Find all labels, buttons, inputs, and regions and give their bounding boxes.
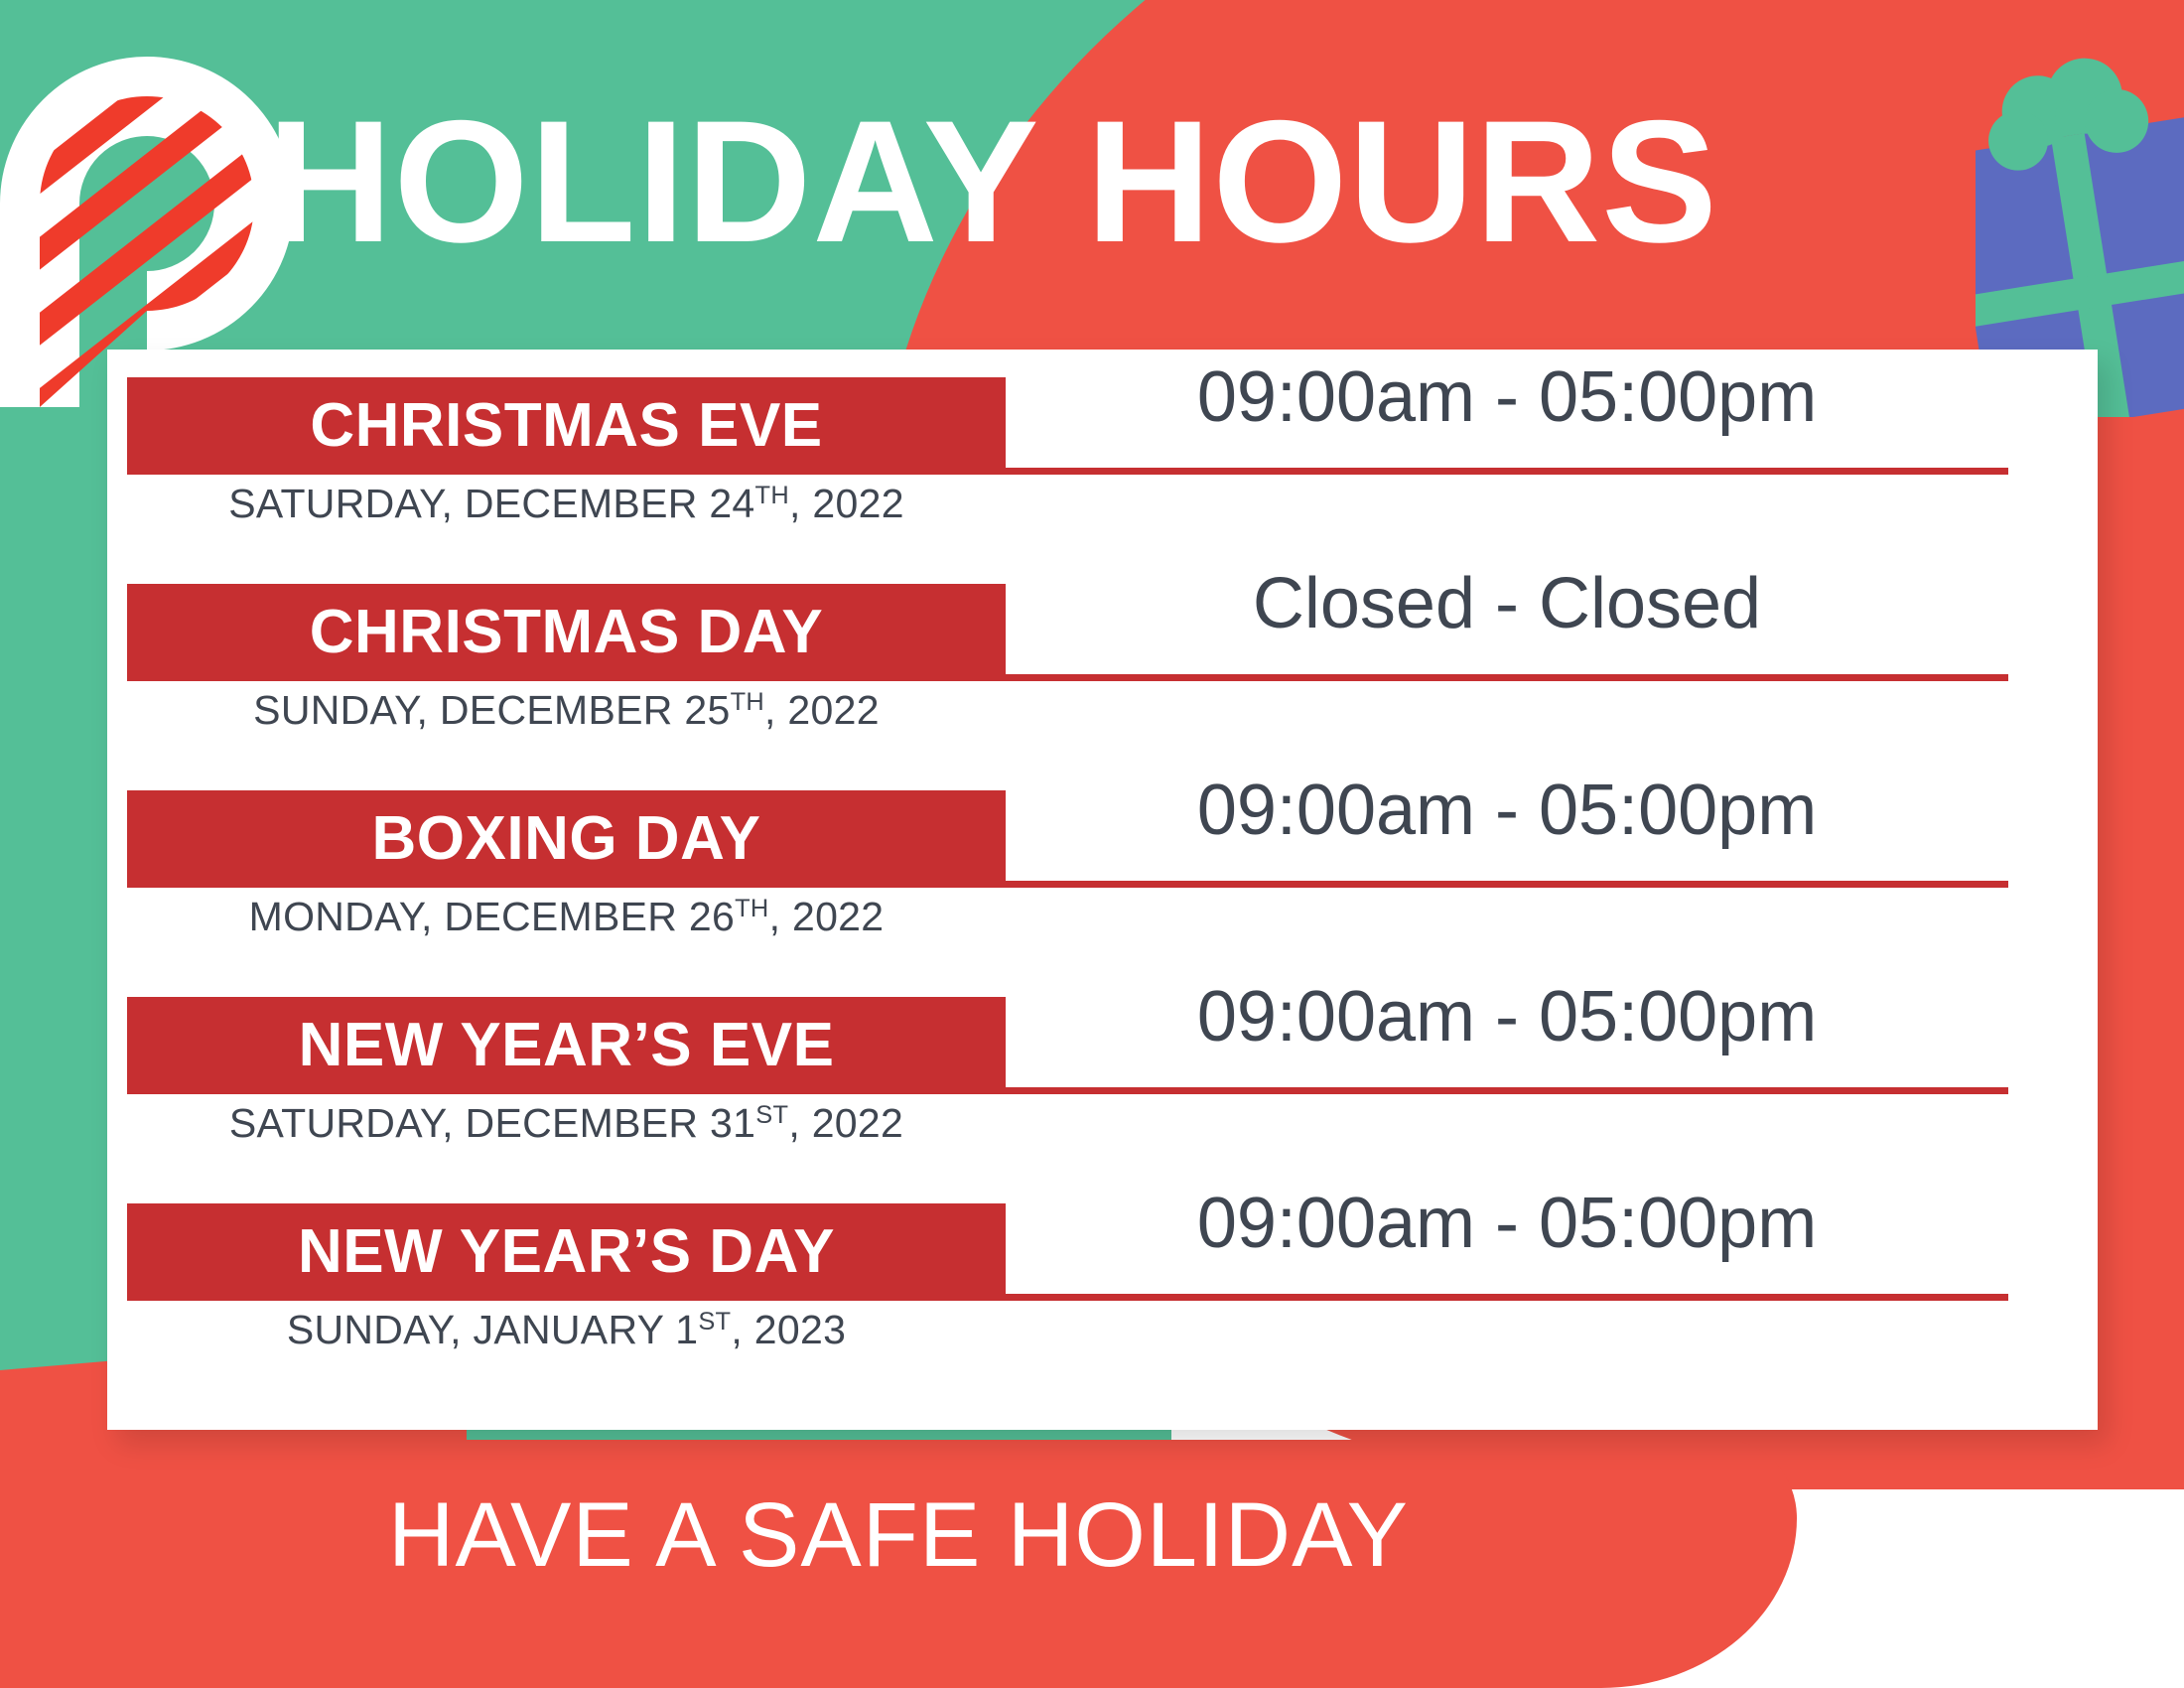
- day-date-weekday: SATURDAY, DECEMBER 31: [229, 1100, 755, 1146]
- day-date-ordinal: ST: [698, 1308, 731, 1336]
- hours-cell: 09:00am - 05:00pm: [1006, 1203, 2008, 1301]
- hours-cell: Closed - Closed: [1006, 584, 2008, 681]
- day-name-band: CHRISTMAS EVE: [127, 377, 1006, 475]
- table-row: CHRISTMAS DAY SUNDAY, DECEMBER 25TH, 202…: [107, 584, 2098, 790]
- hours-underline: [1006, 1294, 2008, 1301]
- day-date-label: SATURDAY, DECEMBER 24TH, 2022: [127, 479, 1006, 529]
- day-date-year: , 2022: [764, 687, 880, 733]
- day-name-band: NEW YEAR’S DAY: [127, 1203, 1006, 1301]
- holiday-hours-poster: HOLIDAY HOURS CHRISTMAS EVE SATURDAY, DE…: [0, 0, 2184, 1688]
- hours-cell: 09:00am - 05:00pm: [1006, 997, 2008, 1094]
- day-date-ordinal: TH: [735, 895, 768, 922]
- table-row: CHRISTMAS EVE SATURDAY, DECEMBER 24TH, 2…: [107, 377, 2098, 584]
- hours-cell: 09:00am - 05:00pm: [1006, 377, 2008, 475]
- day-name-band: NEW YEAR’S EVE: [127, 997, 1006, 1094]
- table-row: NEW YEAR’S DAY SUNDAY, JANUARY 1ST, 2023…: [107, 1203, 2098, 1410]
- day-date-year: , 2022: [789, 481, 904, 526]
- day-date-ordinal: TH: [731, 688, 764, 716]
- day-name-band: CHRISTMAS DAY: [127, 584, 1006, 681]
- day-name-label: CHRISTMAS DAY: [310, 602, 824, 663]
- day-name-label: NEW YEAR’S EVE: [299, 1015, 835, 1076]
- hours-label: 09:00am - 05:00pm: [1006, 1188, 2008, 1259]
- hours-underline: [1006, 468, 2008, 475]
- hours-label: 09:00am - 05:00pm: [1006, 361, 2008, 433]
- hours-label: Closed - Closed: [1006, 568, 2008, 639]
- table-row: NEW YEAR’S EVE SATURDAY, DECEMBER 31ST, …: [107, 997, 2098, 1203]
- day-date-ordinal: ST: [755, 1101, 788, 1129]
- hours-underline: [1006, 1087, 2008, 1094]
- hours-underline: [1006, 674, 2008, 681]
- day-date-weekday: SUNDAY, DECEMBER 25: [253, 687, 730, 733]
- day-name-band: BOXING DAY: [127, 790, 1006, 888]
- hours-underline: [1006, 881, 2008, 888]
- day-name-label: CHRISTMAS EVE: [310, 395, 822, 457]
- day-date-year: , 2022: [769, 894, 885, 939]
- day-date-label: SUNDAY, DECEMBER 25TH, 2022: [127, 685, 1006, 736]
- page-title: HOLIDAY HOURS: [0, 95, 1985, 269]
- day-date-weekday: MONDAY, DECEMBER 26: [249, 894, 735, 939]
- day-date-label: SUNDAY, JANUARY 1ST, 2023: [127, 1305, 1006, 1355]
- day-date-label: SATURDAY, DECEMBER 31ST, 2022: [127, 1098, 1006, 1149]
- day-date-ordinal: TH: [755, 482, 789, 509]
- day-name-label: NEW YEAR’S DAY: [298, 1221, 835, 1283]
- day-date-label: MONDAY, DECEMBER 26TH, 2022: [127, 892, 1006, 942]
- day-date-weekday: SUNDAY, JANUARY 1: [287, 1307, 699, 1352]
- table-row: BOXING DAY MONDAY, DECEMBER 26TH, 2022 0…: [107, 790, 2098, 997]
- day-date-weekday: SATURDAY, DECEMBER 24: [228, 481, 754, 526]
- day-date-year: , 2022: [788, 1100, 903, 1146]
- hours-label: 09:00am - 05:00pm: [1006, 774, 2008, 846]
- day-name-label: BOXING DAY: [371, 808, 760, 870]
- schedule-card: CHRISTMAS EVE SATURDAY, DECEMBER 24TH, 2…: [107, 350, 2098, 1430]
- footer-message: HAVE A SAFE HOLIDAY: [0, 1489, 1797, 1581]
- day-date-year: , 2023: [731, 1307, 846, 1352]
- schedule-rows: CHRISTMAS EVE SATURDAY, DECEMBER 24TH, 2…: [107, 350, 2098, 1430]
- hours-cell: 09:00am - 05:00pm: [1006, 790, 2008, 888]
- hours-label: 09:00am - 05:00pm: [1006, 981, 2008, 1053]
